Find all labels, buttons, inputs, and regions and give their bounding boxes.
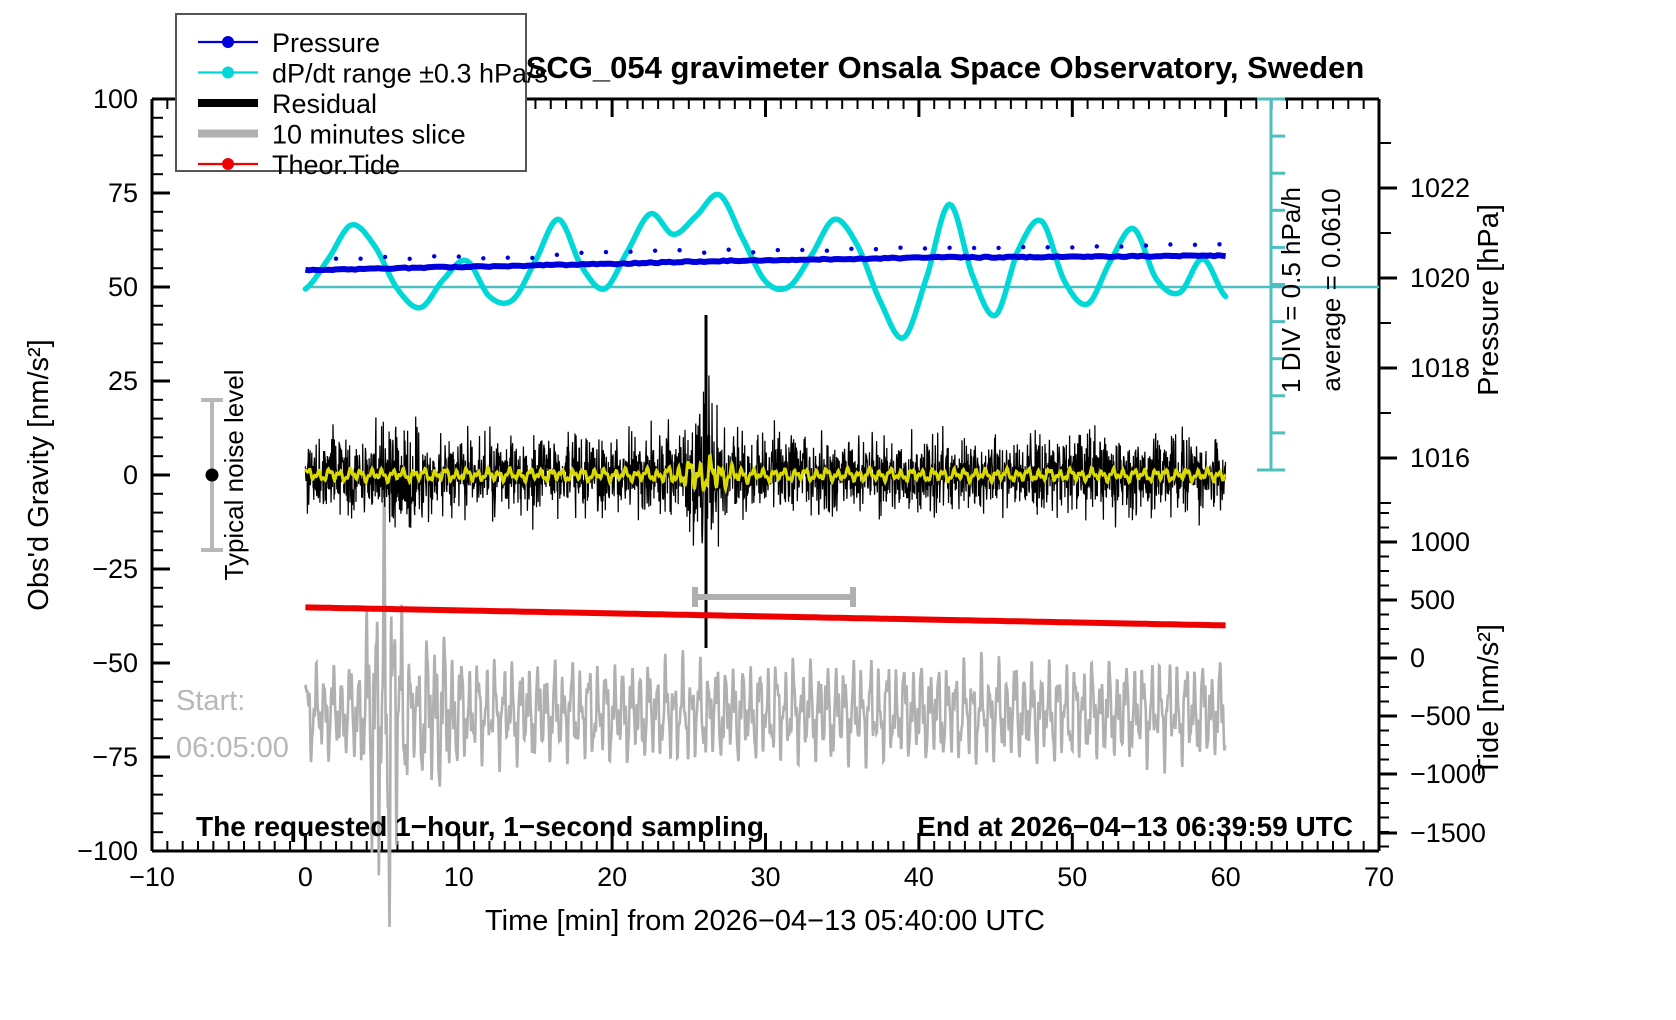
y-tick-label: −50: [92, 648, 138, 678]
noise-level-label: Typical noise level: [219, 370, 249, 581]
x-tick-label: 70: [1364, 862, 1394, 892]
x-tick-label: 50: [1057, 862, 1087, 892]
y-tick-label: 75: [108, 178, 138, 208]
y-left-axis-title: Obs'd Gravity [nm/s²]: [23, 339, 55, 610]
x-axis-title: Time [min] from 2026−04−13 05:40:00 UTC: [485, 905, 1045, 937]
start-time: 06:05:00: [176, 732, 289, 764]
pressure-tick-label: 1016: [1410, 443, 1470, 473]
legend-marker: [222, 158, 234, 170]
tide-tick-label: −500: [1410, 701, 1471, 731]
pressure-tick-label: 1022: [1410, 173, 1470, 203]
x-tick-label: 0: [298, 862, 313, 892]
legend-item-label[interactable]: 10 minutes slice: [272, 120, 466, 150]
chart-svg: −10 0 10 20 30 40 50 60 70 Time [min] fr…: [0, 0, 1676, 1020]
y-tick-label: 25: [108, 366, 138, 396]
noise-center-dot: [206, 469, 219, 482]
x-tick-label: 10: [444, 862, 474, 892]
y-tick-label: 50: [108, 272, 138, 302]
tide-tick-label: 500: [1410, 585, 1455, 615]
y-tick-label: 0: [123, 460, 138, 490]
footer-left-text: The requested 1−hour, 1−second sampling: [196, 811, 764, 842]
pressure-tick-label: 1018: [1410, 353, 1470, 383]
page-title: SCG_054 gravimeter Onsala Space Observat…: [526, 50, 1365, 85]
pressure-tick-label: 1020: [1410, 263, 1470, 293]
average-label: average = 0.0610: [1316, 188, 1346, 391]
div-scale-label: 1 DIV = 0.5 hPa/h: [1276, 187, 1306, 393]
x-tick-label: 20: [597, 862, 627, 892]
legend-item-label[interactable]: Residual: [272, 89, 377, 119]
y-tick-label: −25: [92, 554, 138, 584]
start-label: Start:: [176, 685, 245, 717]
gravimeter-chart-page: −10 0 10 20 30 40 50 60 70 Time [min] fr…: [0, 0, 1676, 1020]
y-right-tide-title: Tide [nm/s²]: [1473, 624, 1505, 776]
x-tick-label: 60: [1211, 862, 1241, 892]
legend-marker: [222, 67, 234, 79]
legend-item-label[interactable]: Theor.Tide: [272, 150, 400, 180]
footer-right-text: End at 2026−04−13 06:39:59 UTC: [917, 811, 1353, 842]
legend[interactable]: PressuredP/dt range ±0.3 hPa/sResidual10…: [176, 14, 548, 180]
tide-tick-label: −1500: [1410, 818, 1486, 848]
y-tick-label: −100: [77, 836, 138, 866]
y-tick-label: −75: [92, 742, 138, 772]
y-tick-label: 100: [93, 84, 138, 114]
x-tick-label: −10: [129, 862, 175, 892]
legend-item-label[interactable]: Pressure: [272, 28, 380, 58]
tide-tick-label: 1000: [1410, 527, 1470, 557]
y-right-pressure-title: Pressure [hPa]: [1473, 204, 1505, 396]
x-tick-label: 30: [750, 862, 780, 892]
x-tick-label: 40: [904, 862, 934, 892]
legend-item-label[interactable]: dP/dt range ±0.3 hPa/s: [272, 59, 548, 89]
tide-tick-label: 0: [1410, 643, 1425, 673]
legend-marker: [222, 36, 234, 48]
